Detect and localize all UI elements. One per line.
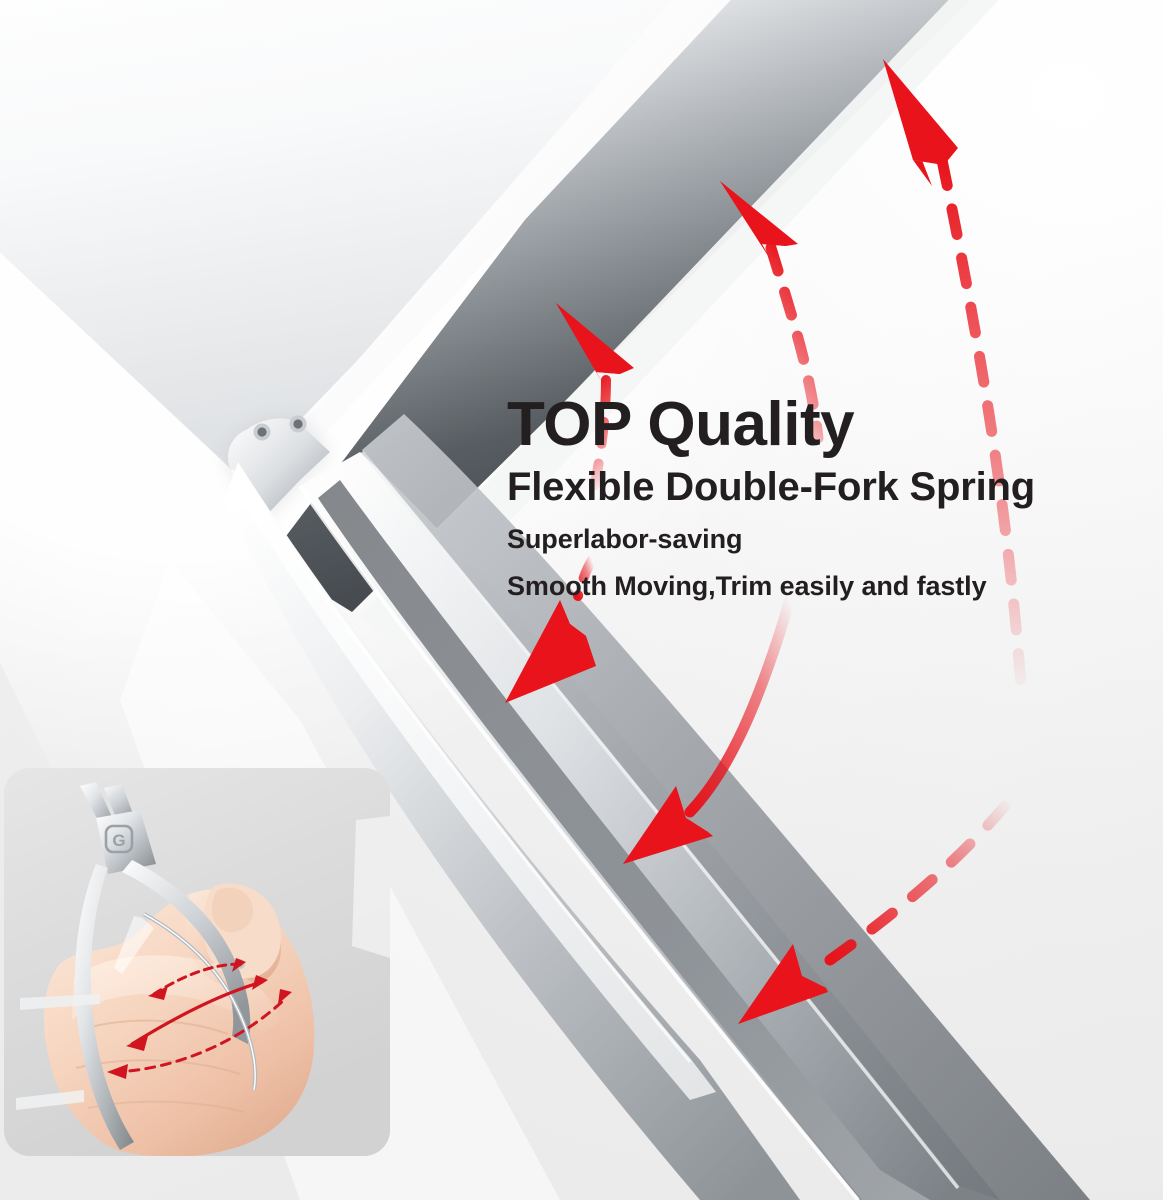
logo-glyph: G	[112, 831, 125, 850]
inset-bg-object	[352, 816, 390, 958]
rivet-left-core	[257, 427, 266, 436]
caption-block: TOP Quality Flexible Double-Fork Spring …	[507, 392, 1107, 606]
inset-illustration: G	[4, 768, 390, 1156]
feature-graphic-canvas: TOP Quality Flexible Double-Fork Spring …	[0, 0, 1163, 1200]
subheadline: Flexible Double-Fork Spring	[507, 463, 1107, 512]
benefit-line-2: Smooth Moving,Trim easily and fastly	[507, 567, 1107, 606]
inset-card: G	[4, 768, 390, 1156]
rivet-right-core	[293, 419, 302, 428]
headline: TOP Quality	[507, 392, 1107, 457]
benefit-line-1: Superlabor-saving	[507, 520, 1107, 559]
